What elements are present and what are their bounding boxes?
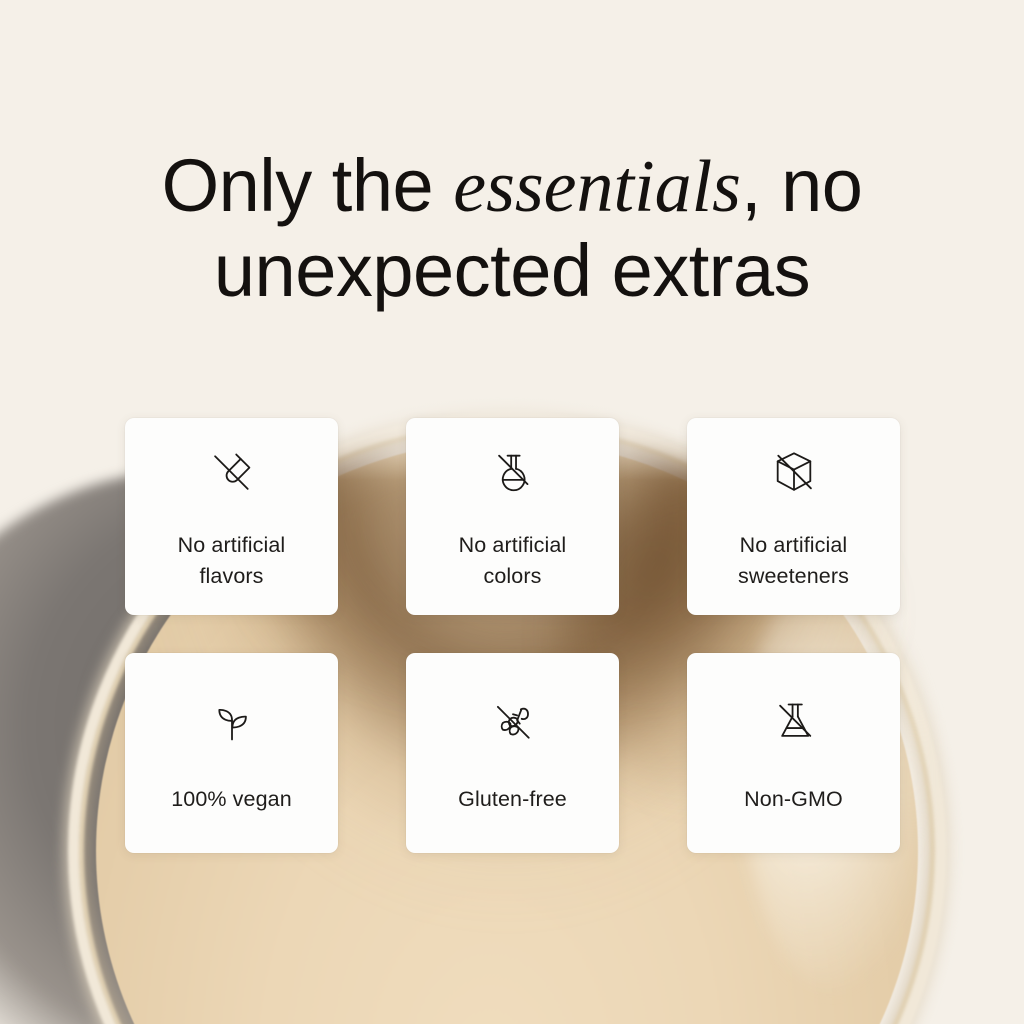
badge-label: No artificial colors (459, 530, 567, 591)
test-tube-slash-icon (203, 440, 261, 504)
badge-label-line: 100% vegan (171, 787, 292, 811)
headline-part-one: Only the (162, 144, 454, 227)
badge-label-line: No artificial (459, 533, 567, 557)
badge-label-line: sweeteners (738, 564, 849, 588)
badge-label: Non-GMO (744, 784, 843, 815)
benefit-badge-grid: No artificial flavors No artificial colo… (125, 418, 899, 853)
badge-card-vegan: 100% vegan (125, 653, 338, 853)
badge-card-gluten-free: Gluten-free (406, 653, 619, 853)
badge-label-line: Non-GMO (744, 787, 843, 811)
badge-card-non-gmo: Non-GMO (687, 653, 900, 853)
badge-label-line: colors (484, 564, 542, 588)
promo-canvas: Only the essentials, no unexpected extra… (0, 0, 1024, 1024)
wheat-slash-icon (484, 690, 542, 754)
badge-card-no-artificial-flavors: No artificial flavors (125, 418, 338, 615)
badge-label: Gluten-free (458, 784, 567, 815)
badge-label-line: flavors (199, 564, 263, 588)
badge-label-line: Gluten-free (458, 787, 567, 811)
sprout-icon (203, 690, 261, 754)
flask-slash-icon (484, 440, 542, 504)
headline-emphasis: essentials (453, 146, 741, 228)
badge-label: No artificial sweeteners (738, 530, 849, 591)
badge-label-line: No artificial (178, 533, 286, 557)
badge-card-no-artificial-sweeteners: No artificial sweeteners (687, 418, 900, 615)
badge-card-no-artificial-colors: No artificial colors (406, 418, 619, 615)
badge-label: No artificial flavors (178, 530, 286, 591)
badge-label: 100% vegan (171, 784, 292, 815)
page-headline: Only the essentials, no unexpected extra… (0, 144, 1024, 314)
erlenmeyer-flask-slash-icon (765, 690, 823, 754)
sugar-cube-slash-icon (765, 440, 823, 504)
badge-label-line: No artificial (740, 533, 848, 557)
